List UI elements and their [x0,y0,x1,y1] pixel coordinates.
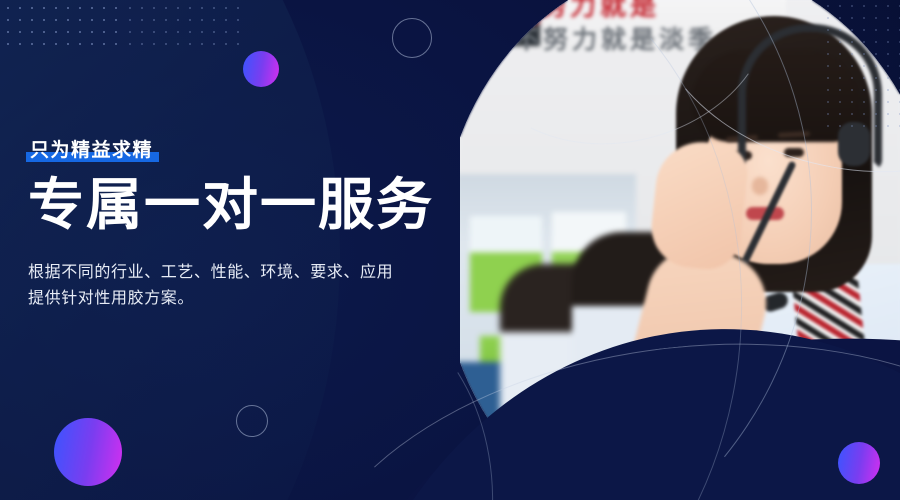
promo-banner: 努力就是 不努力就是淡季 [0,0,900,500]
gradient-circle-top [243,51,279,87]
dot-grid-top-right [822,0,900,130]
ring-circle-left [236,405,268,437]
dot-grid-top-left [2,2,124,52]
eyebrow-text: 只为精益求精 [30,138,153,164]
gradient-circle-bottom-right [838,442,880,484]
copy-block: 只为精益求精 专属一对一服务 根据不同的行业、工艺、性能、环境、要求、应用提供针… [28,138,428,312]
dot-grid-top-left-secondary [124,2,246,52]
gradient-circle-bottom-left [54,418,122,486]
subtitle-text: 根据不同的行业、工艺、性能、环境、要求、应用提供针对性用胶方案。 [28,260,400,312]
ring-circle-top [392,18,432,58]
eyebrow-wrapper: 只为精益求精 [26,138,159,164]
page-title: 专属一对一服务 [28,172,428,238]
